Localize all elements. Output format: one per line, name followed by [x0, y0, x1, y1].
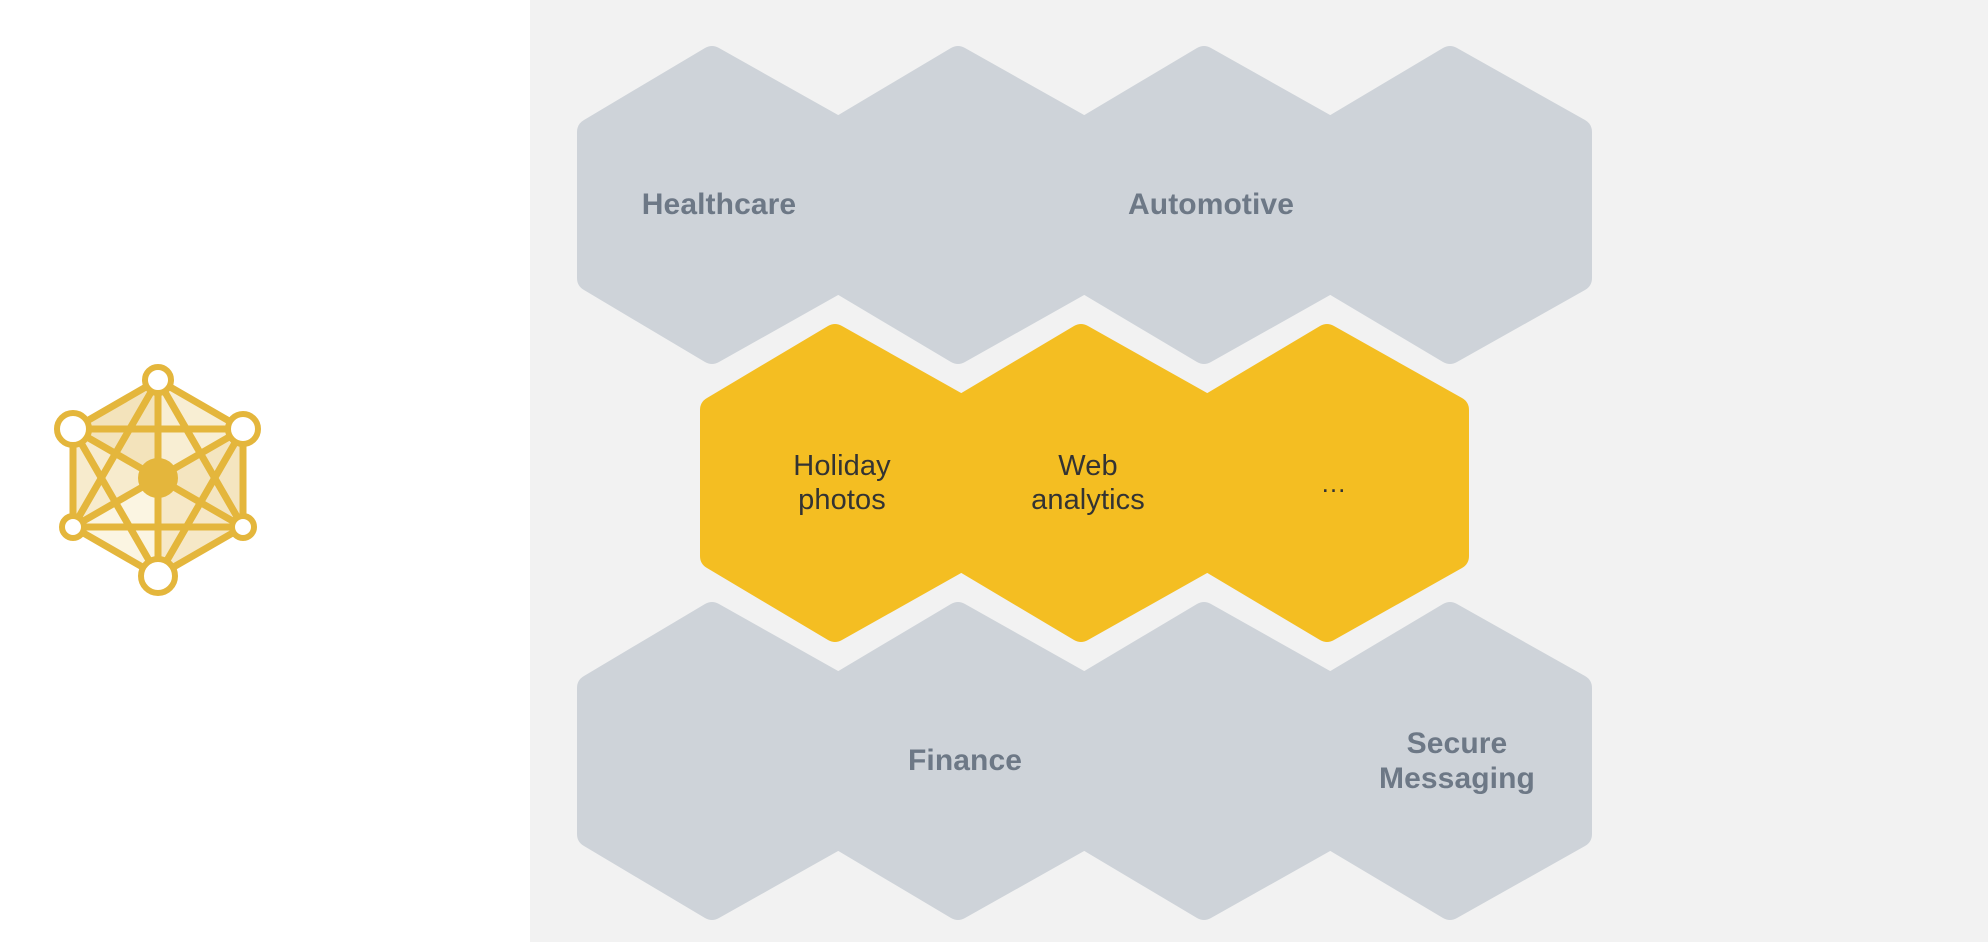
hex-label: …: [1321, 468, 1348, 499]
page-root: Healthcare Automotive: [0, 0, 1988, 942]
left-panel: [0, 0, 530, 942]
hexagon-shape: [1068, 596, 1354, 926]
hex-label: Holiday photos: [793, 449, 890, 517]
hex-label: Web analytics: [1031, 449, 1145, 517]
hex-finance[interactable]: Finance: [822, 596, 1108, 926]
hex-label: Automotive: [1128, 187, 1294, 222]
right-panel: Healthcare Automotive: [530, 0, 1988, 942]
hex-label: Healthcare: [642, 187, 796, 222]
hex-blank-bottom-3[interactable]: [1068, 596, 1354, 926]
hex-blank-bottom-1[interactable]: [576, 596, 862, 926]
network-graph-logo: [38, 358, 278, 598]
hex-secure-messaging[interactable]: Secure Messaging: [1314, 596, 1600, 926]
hex-label: Finance: [908, 743, 1022, 778]
hexagon-shape: [576, 596, 862, 926]
honeycomb-grid: Healthcare Automotive: [530, 0, 1988, 942]
hex-label: Secure Messaging: [1379, 726, 1535, 797]
